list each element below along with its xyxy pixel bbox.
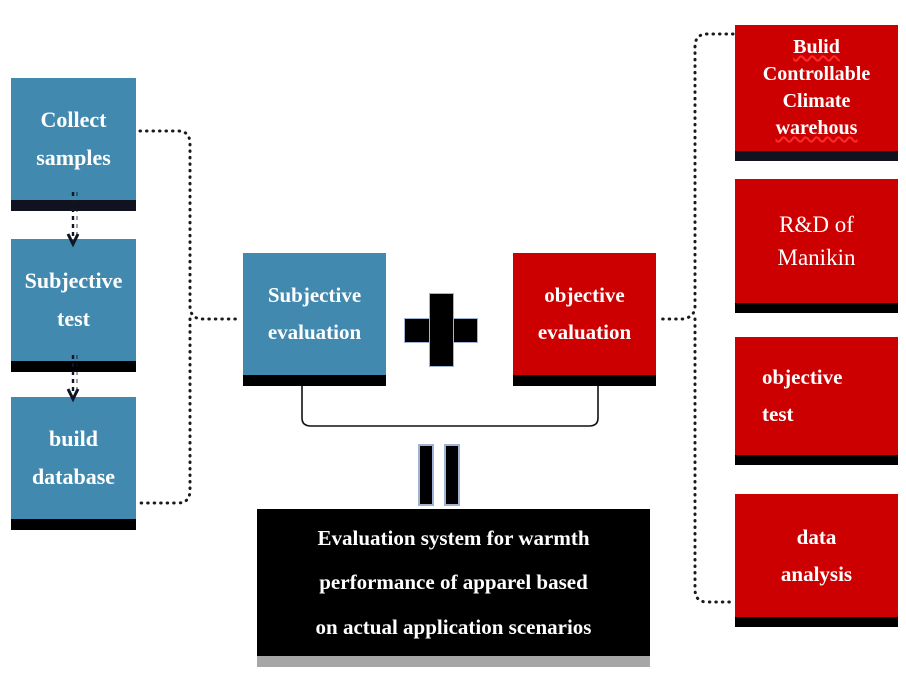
result-line-1: Evaluation system for warmth <box>317 516 589 560</box>
node-build-database[interactable]: build database <box>11 397 136 519</box>
connector-left-bracket <box>138 120 248 520</box>
climate-warehouse-line-3: Climate <box>783 88 851 115</box>
node-subjective-test-line-2: test <box>57 300 90 339</box>
node-build-database-line-2: database <box>32 458 115 497</box>
node-collect-samples-line-2: samples <box>36 139 111 178</box>
objective-test-line-1: objective <box>762 359 842 396</box>
connector-centre-bracket <box>300 386 600 432</box>
node-rd-of-manikin[interactable]: R&D of Manikin <box>735 179 898 303</box>
objective-test-line-2: test <box>762 396 793 433</box>
node-objective-test[interactable]: objective test <box>735 337 898 455</box>
node-data-analysis-shadow <box>735 617 898 627</box>
node-subjective-evaluation-line-1: Subjective <box>268 277 361 314</box>
node-subjective-evaluation-shadow <box>243 375 386 386</box>
climate-warehouse-line-4: warehous <box>776 115 858 142</box>
equals-bar-left <box>418 444 434 506</box>
equals-bar-right <box>444 444 460 506</box>
rd-of-manikin-line-2: Manikin <box>778 241 856 274</box>
data-analysis-line-1: data <box>797 519 837 556</box>
node-subjective-test-shadow <box>11 361 136 372</box>
node-build-database-shadow <box>11 519 136 530</box>
node-build-controllable-climate-warehouse-shadow <box>735 151 898 161</box>
rd-of-manikin-line-1: R&D of <box>779 208 854 241</box>
node-objective-evaluation-line-2: evaluation <box>538 314 631 351</box>
node-data-analysis[interactable]: data analysis <box>735 494 898 617</box>
node-objective-evaluation-shadow <box>513 375 656 386</box>
node-objective-test-shadow <box>735 455 898 465</box>
node-evaluation-system-result-shadow <box>257 656 650 667</box>
node-objective-evaluation-line-1: objective <box>544 277 624 314</box>
node-collect-samples-shadow <box>11 200 136 211</box>
node-rd-of-manikin-shadow <box>735 303 898 313</box>
result-line-3: on actual application scenarios <box>316 605 592 649</box>
plus-operator-icon <box>404 293 478 367</box>
climate-warehouse-line-2: Controllable <box>763 61 870 88</box>
data-analysis-line-2: analysis <box>781 556 852 593</box>
node-evaluation-system-result[interactable]: Evaluation system for warmth performance… <box>257 509 650 656</box>
node-subjective-test[interactable]: Subjective test <box>11 239 136 361</box>
plus-vertical-bar <box>429 293 454 367</box>
diagram-canvas: Collect samples Subjective test build da… <box>0 0 906 684</box>
equals-operator-icon <box>418 444 464 506</box>
node-subjective-evaluation-line-2: evaluation <box>268 314 361 351</box>
node-collect-samples-line-1: Collect <box>41 101 107 140</box>
node-objective-evaluation[interactable]: objective evaluation <box>513 253 656 375</box>
node-build-database-line-1: build <box>49 420 98 459</box>
node-collect-samples[interactable]: Collect samples <box>11 78 136 200</box>
node-subjective-evaluation[interactable]: Subjective evaluation <box>243 253 386 375</box>
result-line-2: performance of apparel based <box>319 560 588 604</box>
node-build-controllable-climate-warehouse[interactable]: Bulid Controllable Climate warehous <box>735 25 898 151</box>
node-subjective-test-line-1: Subjective <box>25 262 123 301</box>
climate-warehouse-line-1: Bulid <box>793 34 840 61</box>
